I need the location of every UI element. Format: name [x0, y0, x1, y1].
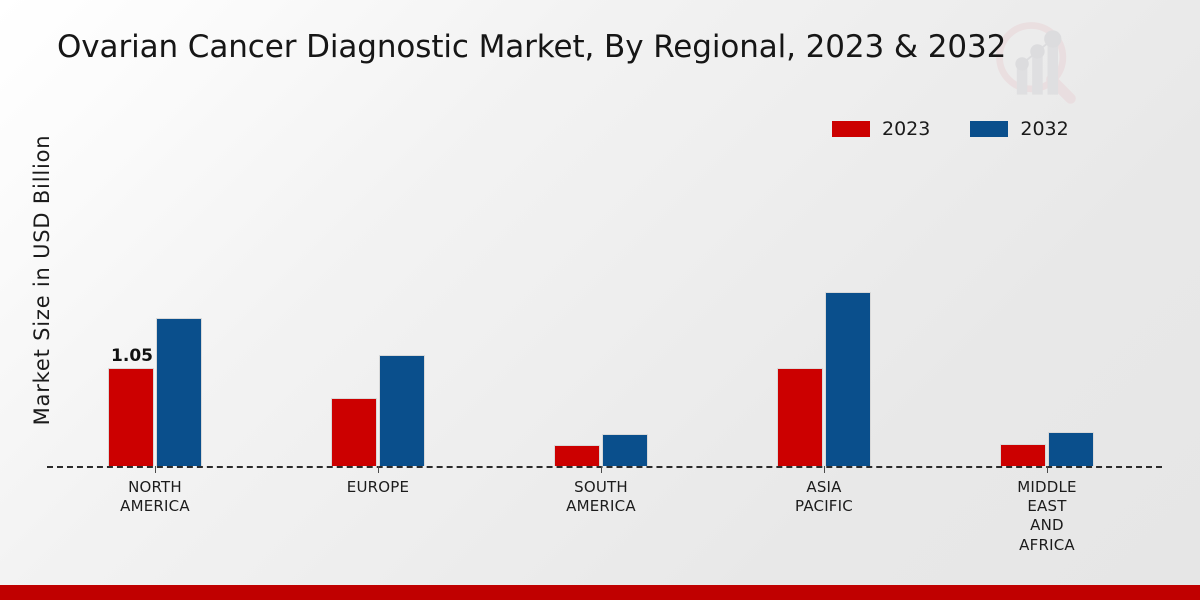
- category-label-line: AFRICA: [952, 536, 1142, 555]
- x-axis-category-label: MIDDLEEASTANDAFRICA: [952, 478, 1142, 555]
- x-axis-tick: [1047, 466, 1048, 473]
- x-axis-category-label: EUROPE: [283, 478, 473, 497]
- x-axis-tick: [601, 466, 602, 473]
- bar-2032[interactable]: [379, 355, 425, 466]
- bar-2032[interactable]: [602, 434, 648, 466]
- category-label-line: EUROPE: [283, 478, 473, 497]
- bar-2023[interactable]: [777, 368, 823, 466]
- bar-2032[interactable]: [825, 292, 871, 466]
- x-axis-category-label: SOUTHAMERICA: [506, 478, 696, 516]
- category-label-line: EAST: [952, 497, 1142, 516]
- bar-2023[interactable]: [1000, 444, 1046, 466]
- bar-value-label: 1.05: [111, 346, 153, 366]
- category-label-line: ASIA: [729, 478, 919, 497]
- x-axis-category-label: ASIAPACIFIC: [729, 478, 919, 516]
- x-axis-category-label: NORTHAMERICA: [60, 478, 250, 516]
- category-label-line: SOUTH: [506, 478, 696, 497]
- x-axis-tick: [378, 466, 379, 473]
- bottom-accent-band: [0, 585, 1200, 600]
- x-axis-baseline: [47, 466, 1162, 468]
- bar-2023[interactable]: 1.05: [108, 368, 154, 466]
- category-label-line: MIDDLE: [952, 478, 1142, 497]
- x-axis-tick: [155, 466, 156, 473]
- chart-figure: Ovarian Cancer Diagnostic Market, By Reg…: [0, 0, 1200, 600]
- bar-2023[interactable]: [554, 445, 600, 466]
- bar-2023[interactable]: [331, 398, 377, 466]
- bar-2032[interactable]: [1048, 432, 1094, 466]
- category-label-line: AND: [952, 516, 1142, 535]
- x-axis-tick: [824, 466, 825, 473]
- category-label-line: AMERICA: [506, 497, 696, 516]
- bar-2032[interactable]: [156, 318, 202, 466]
- category-label-line: PACIFIC: [729, 497, 919, 516]
- category-label-line: AMERICA: [60, 497, 250, 516]
- plot-area: 1.05NORTHAMERICAEUROPESOUTHAMERICAASIAPA…: [0, 0, 1200, 600]
- category-label-line: NORTH: [60, 478, 250, 497]
